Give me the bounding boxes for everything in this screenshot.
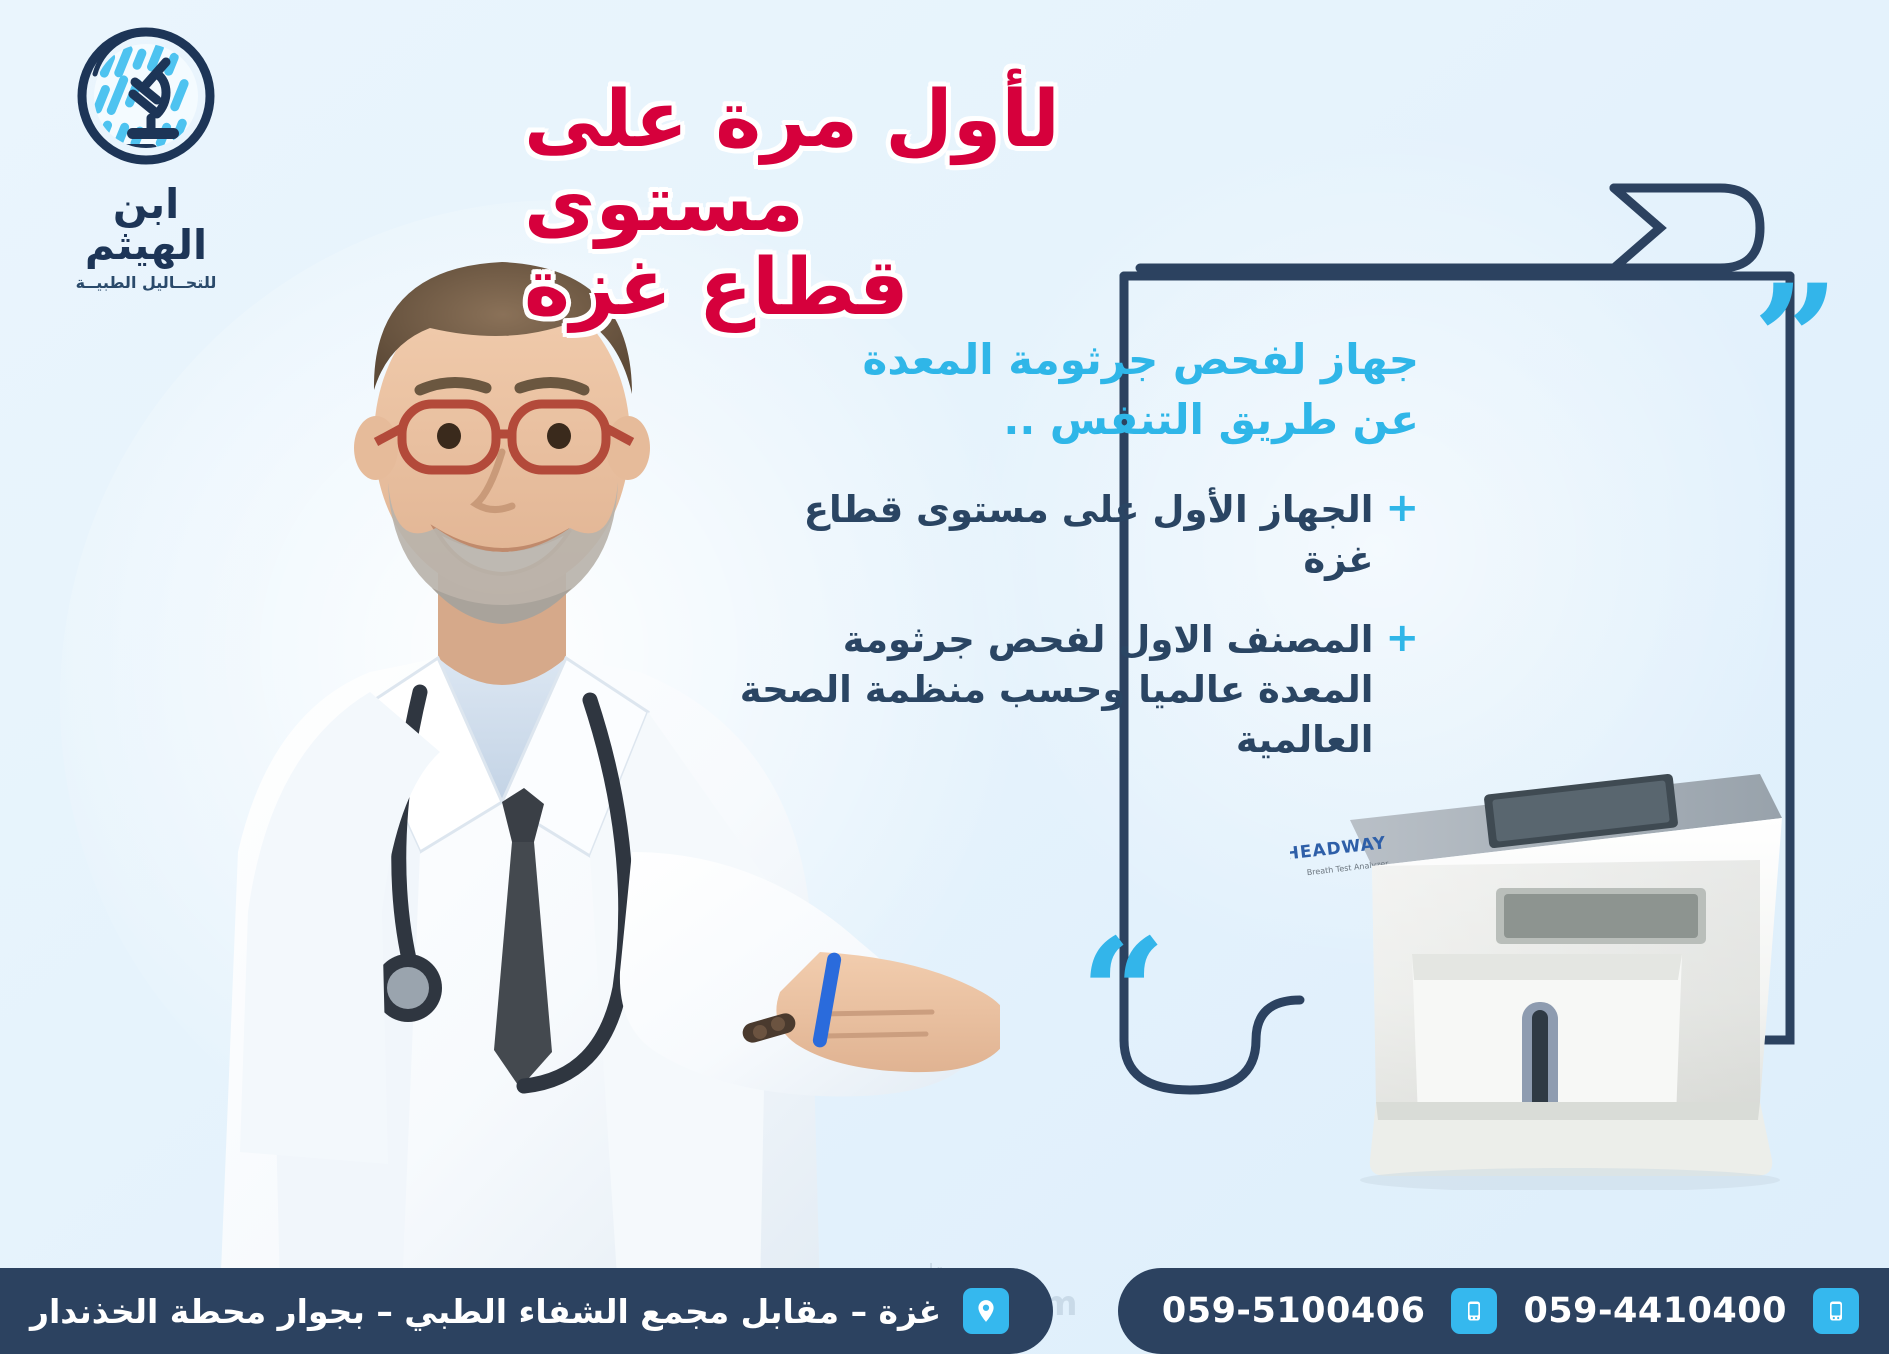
- quote-open-icon: ”: [1753, 286, 1839, 394]
- feature-bullet-1-text: الجهاز الأول على مستوى قطاع غزة: [729, 485, 1373, 585]
- map-pin-icon: [963, 1288, 1009, 1334]
- footer: غزة – مقابل مجمع الشفاء الطبي – بجوار مح…: [0, 1246, 1889, 1354]
- headline-line-1: لأول مرة على مستوى: [524, 78, 1344, 246]
- mobile-phone-icon[interactable]: [1451, 1288, 1497, 1334]
- clinic-address: غزة – مقابل مجمع الشفاء الطبي – بجوار مح…: [30, 1292, 941, 1331]
- feature-bullet-2-text: المصنف الاول لفحص جرثومة المعدة عالميا و…: [729, 615, 1373, 765]
- microscope-circle-logo-icon: [71, 22, 221, 172]
- phone-number-1: 059-5100406: [1162, 1291, 1426, 1331]
- feature-bullet-2: + المصنف الاول لفحص جرثومة المعدة عالميا…: [729, 615, 1419, 765]
- lead-paragraph: جهاز لفحص جرثومة المعدة عن طريق التنفس .…: [729, 330, 1419, 449]
- page-headline: لأول مرة على مستوى قطاع غزة: [524, 78, 1344, 331]
- phones-bar: 059-5100406 059-4410400: [1118, 1268, 1889, 1354]
- quote-close-icon: “: [1080, 940, 1166, 1048]
- phone-number-2: 059-4410400: [1523, 1291, 1787, 1331]
- plus-icon: +: [1385, 485, 1419, 532]
- address-bar: غزة – مقابل مجمع الشفاء الطبي – بجوار مح…: [0, 1268, 1053, 1354]
- content-panel: جهاز لفحص جرثومة المعدة عن طريق التنفس .…: [729, 330, 1419, 795]
- poster-root: ابن الهيثم للتحــاليل الطبيــة: [0, 0, 1889, 1354]
- lead-line-2: عن طريق التنفس ..: [729, 390, 1419, 450]
- lead-line-1: جهاز لفحص جرثومة المعدة: [729, 330, 1419, 390]
- headline-line-2: قطاع غزة: [524, 246, 1344, 330]
- plus-icon: +: [1385, 615, 1419, 662]
- feature-bullet-1: + الجهاز الأول على مستوى قطاع غزة: [729, 485, 1419, 585]
- mobile-phone-icon[interactable]: [1813, 1288, 1859, 1334]
